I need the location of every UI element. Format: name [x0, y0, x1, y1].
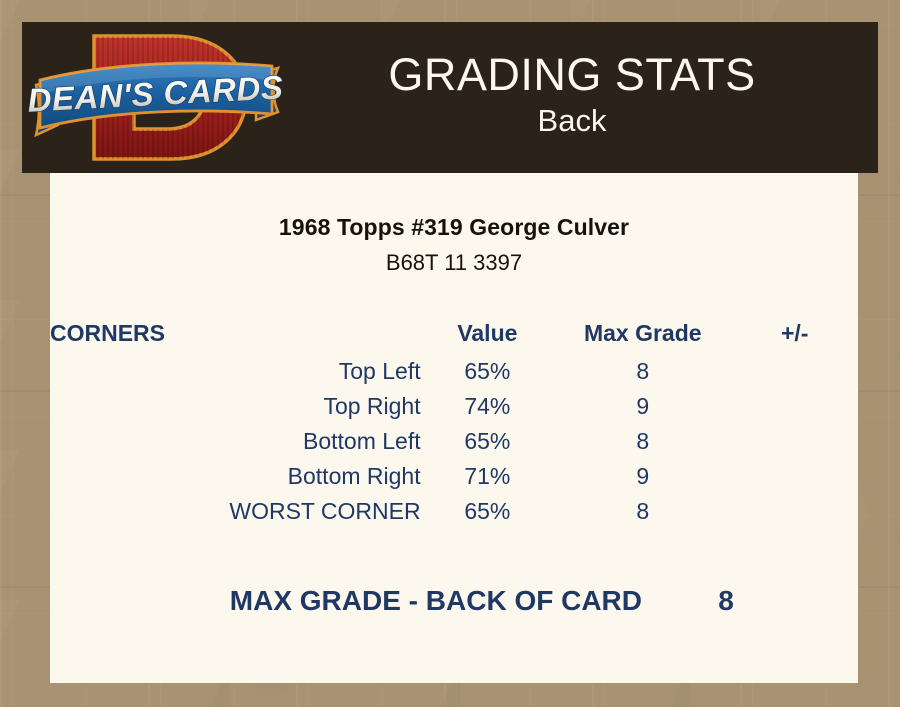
- corner-value: 65%: [421, 494, 555, 529]
- corner-label: Top Left: [50, 354, 421, 389]
- deans-cards-logo[interactable]: DEAN'S CARDS: [22, 22, 290, 173]
- corner-plus-minus: [731, 354, 858, 389]
- corner-value: 65%: [421, 354, 555, 389]
- corner-value: 65%: [421, 424, 555, 459]
- card-sku: B68T 11 3397: [50, 250, 858, 276]
- corner-plus-minus: [731, 424, 858, 459]
- corner-label: Bottom Left: [50, 424, 421, 459]
- column-header-corners: CORNERS: [50, 312, 421, 354]
- corner-plus-minus: [731, 494, 858, 529]
- corner-max-grade: 9: [554, 389, 731, 424]
- grading-stats-body: Top Left65%8Top Right74%9Bottom Left65%8…: [50, 354, 858, 529]
- corner-plus-minus: [731, 459, 858, 494]
- corner-label: Top Right: [50, 389, 421, 424]
- corner-max-grade: 8: [554, 494, 731, 529]
- table-row: WORST CORNER65%8: [50, 494, 858, 529]
- card-title: 1968 Topps #319 George Culver: [50, 214, 858, 241]
- corner-plus-minus: [731, 389, 858, 424]
- corner-max-grade: 9: [554, 459, 731, 494]
- column-header-plus-minus: +/-: [731, 312, 858, 354]
- table-row: Top Left65%8: [50, 354, 858, 389]
- grading-stats-table: CORNERS Value Max Grade +/- Top Left65%8…: [50, 312, 858, 529]
- corner-label: Bottom Right: [50, 459, 421, 494]
- column-header-max-grade: Max Grade: [554, 312, 731, 354]
- table-row: Bottom Right71%9: [50, 459, 858, 494]
- table-header-row: CORNERS Value Max Grade +/-: [50, 312, 858, 354]
- table-row: Bottom Left65%8: [50, 424, 858, 459]
- corner-value: 74%: [421, 389, 555, 424]
- corner-value: 71%: [421, 459, 555, 494]
- corner-max-grade: 8: [554, 354, 731, 389]
- header-bar: DEAN'S CARDS GRADING STATS Back: [22, 22, 878, 173]
- corner-max-grade: 8: [554, 424, 731, 459]
- content-panel: 1968 Topps #319 George Culver B68T 11 33…: [50, 173, 858, 683]
- page-subtitle: Back: [290, 102, 854, 139]
- summary-label: MAX GRADE - BACK OF CARD: [50, 585, 642, 617]
- corner-label: WORST CORNER: [50, 494, 421, 529]
- summary-value: 8: [642, 585, 858, 617]
- summary-row: MAX GRADE - BACK OF CARD 8: [50, 585, 858, 617]
- header-title-block: GRADING STATS Back: [290, 52, 878, 139]
- column-header-value: Value: [421, 312, 555, 354]
- page-title: GRADING STATS: [290, 52, 854, 98]
- table-row: Top Right74%9: [50, 389, 858, 424]
